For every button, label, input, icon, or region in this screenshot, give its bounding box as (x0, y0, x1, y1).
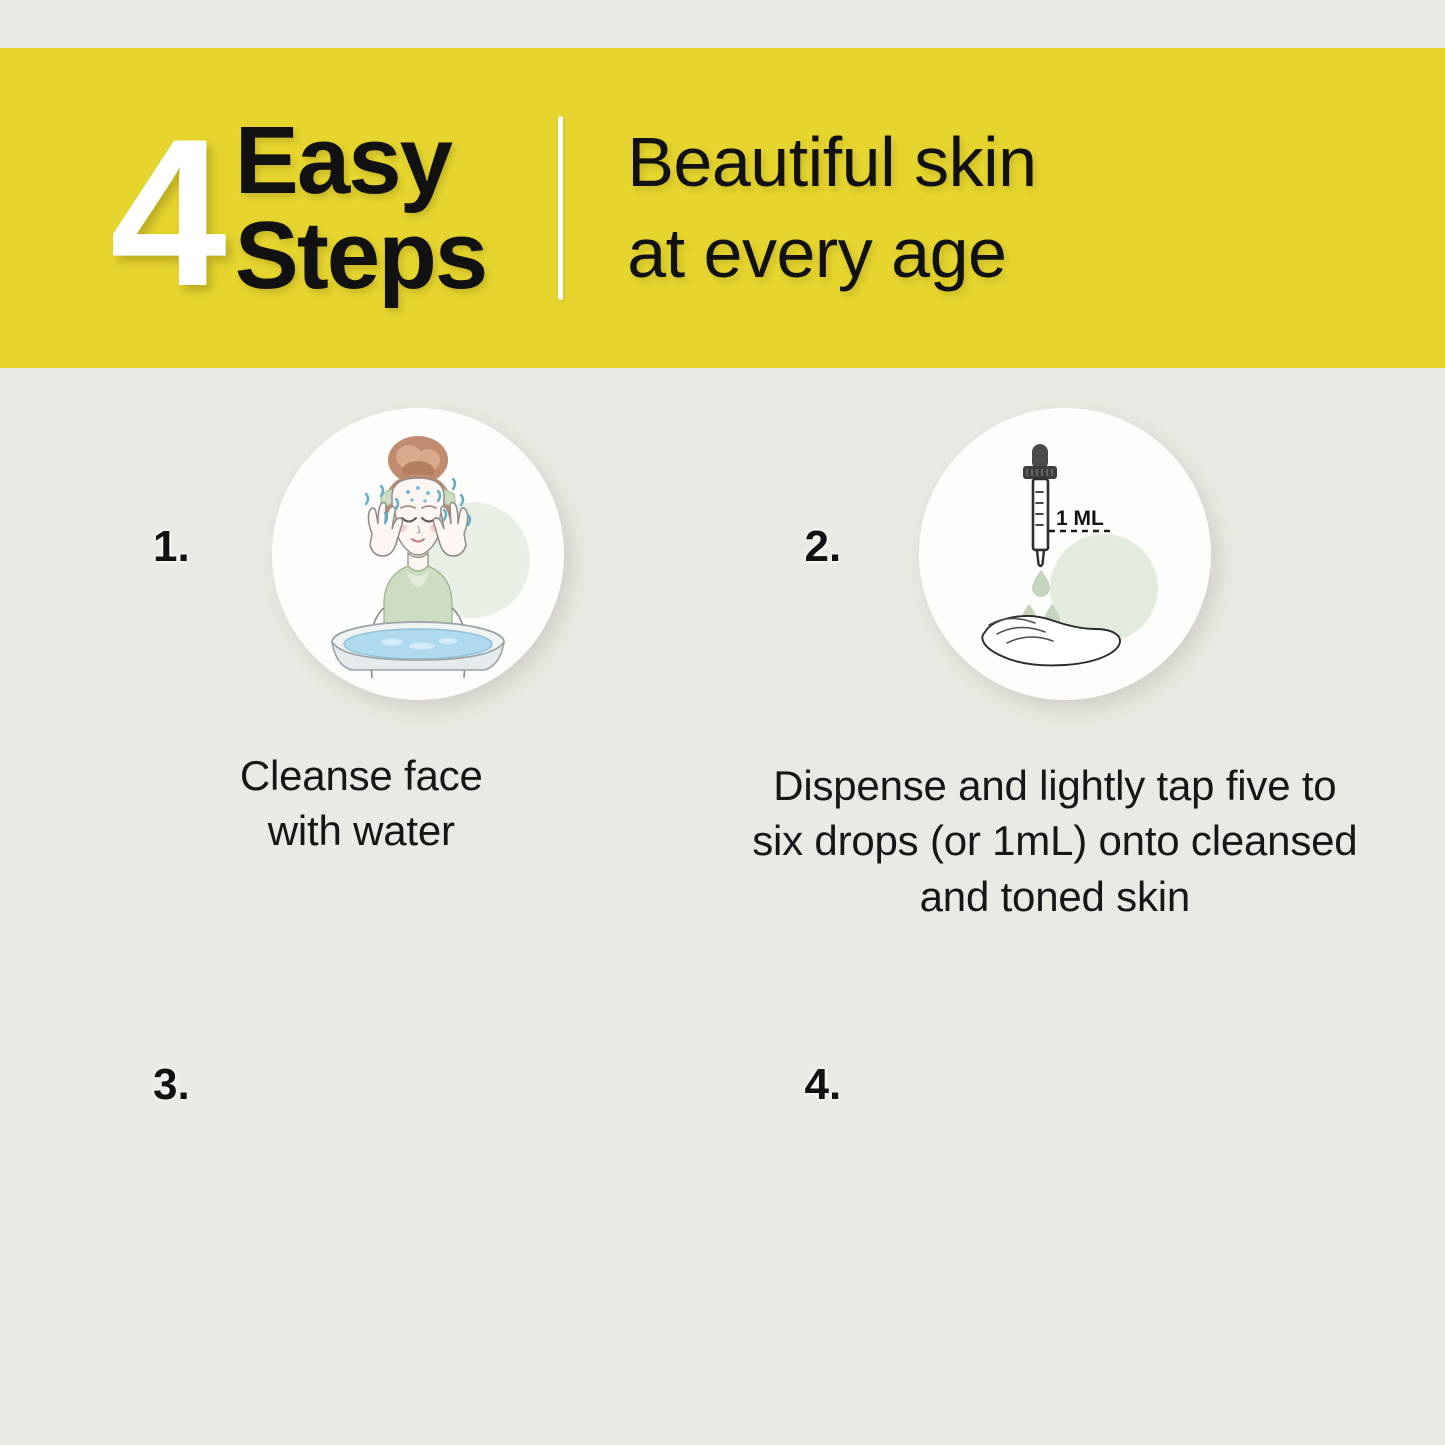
step-count-number: 4 (110, 118, 221, 307)
infographic-root: 4 Easy Steps Beautiful skin at every age… (0, 0, 1445, 1445)
step-caption-2: Dispense and lightly tap five to six dro… (705, 758, 1405, 924)
step-caption-2-line1: Dispense and lightly tap five to (705, 758, 1405, 813)
step-caption-1-line1: Cleanse face (111, 748, 611, 803)
dropper-into-palm-icon: 1 ML (919, 408, 1211, 700)
banner-tagline-line2: at every age (627, 208, 1036, 299)
step-number-1: 1. (153, 522, 190, 572)
step-caption-2-line2: six drops (or 1mL) onto cleansed (705, 813, 1405, 868)
banner-divider (558, 116, 563, 300)
banner-tagline: Beautiful skin at every age (627, 117, 1036, 299)
step-item-1: 1. (0, 380, 723, 910)
dropper-measurement-label: 1 ML (1056, 507, 1104, 530)
banner-heading-line2: Steps (235, 208, 486, 303)
banner-heading-line1: Easy (235, 113, 486, 208)
steps-grid: 1. (0, 380, 1445, 1445)
step-item-2: 2. (723, 380, 1445, 910)
woman-washing-face-icon (272, 408, 564, 700)
step-caption-1-line2: with water (111, 803, 611, 858)
step-number-2: 2. (805, 522, 842, 572)
step-number-3: 3. (153, 1060, 190, 1110)
header-banner: 4 Easy Steps Beautiful skin at every age (0, 48, 1445, 368)
step-item-3: 3. (0, 910, 723, 1445)
step-caption-1: Cleanse face with water (111, 748, 611, 859)
step-number-4: 4. (805, 1060, 842, 1110)
banner-content: 4 Easy Steps Beautiful skin at every age (0, 113, 1445, 303)
banner-heading: Easy Steps (235, 113, 486, 303)
step-item-4: 4. (723, 910, 1445, 1445)
banner-tagline-line1: Beautiful skin (627, 117, 1036, 208)
